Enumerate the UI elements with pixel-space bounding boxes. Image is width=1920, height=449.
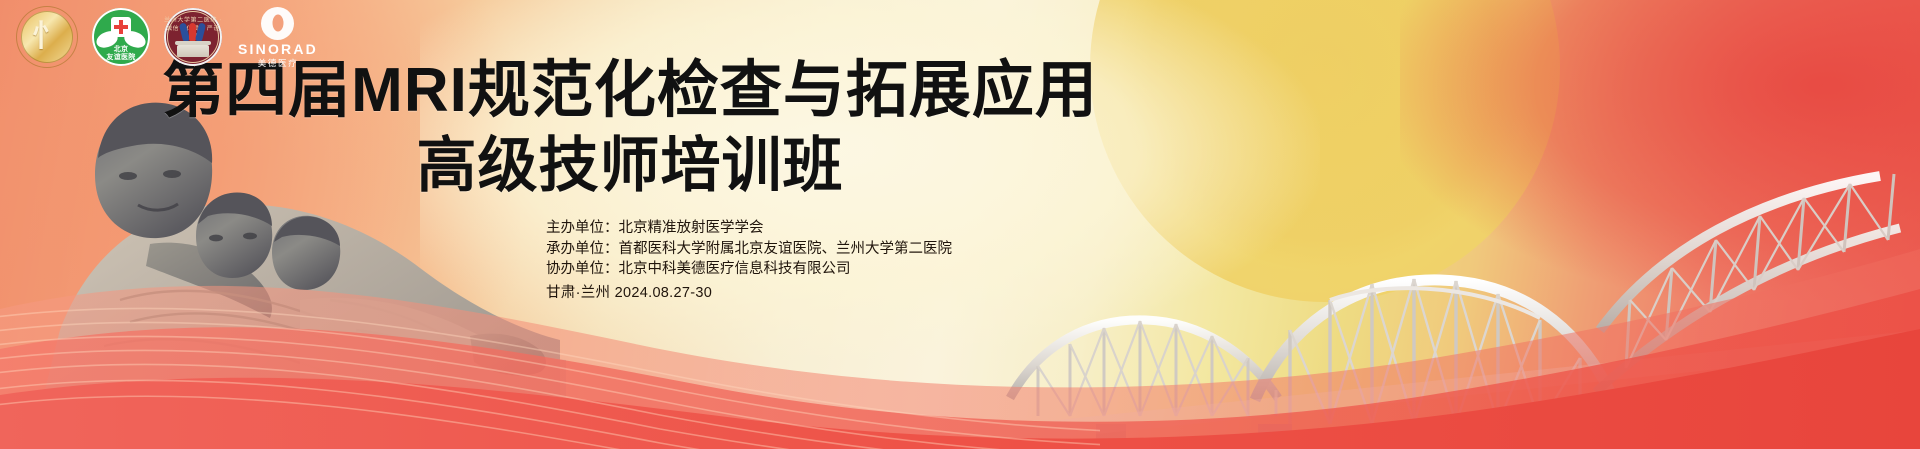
gold-seal-logo: 忄 <box>16 6 78 68</box>
sinorad-logo: SINORAD 美德医疗 <box>238 7 318 68</box>
sinorad-wordmark: SINORAD <box>238 42 318 56</box>
ribbon-icon <box>180 23 206 43</box>
gold-seal-mark: 忄 <box>16 6 78 68</box>
hospital-logo-line1: 北京 <box>92 46 150 54</box>
co-organizer-line: 协办单位：北京中科美德医疗信息科技有限公司 <box>546 259 952 280</box>
conference-banner: 忄 北京 友谊医院 兰州大学第二医院 · 诚信 · 仁爱 · 严谨 · 创新 <box>0 0 1920 449</box>
host-line: 承办单位：首都医科大学附属北京友谊医院、兰州大学第二医院 <box>546 239 952 260</box>
hospital-logo-text: 北京 友谊医院 <box>92 46 150 61</box>
location-date-line: 甘肃·兰州 2024.08.27-30 <box>546 283 952 304</box>
maroon-circle-badge: 兰州大学第二医院 · 诚信 · 仁爱 · 严谨 · 创新 <box>164 8 222 66</box>
green-circle-badge: 北京 友谊医院 <box>92 8 150 66</box>
organizer-line: 主办单位：北京精准放射医学学会 <box>546 218 952 239</box>
sinorad-eye-icon <box>261 7 294 40</box>
logo-row: 忄 北京 友谊医院 兰州大学第二医院 · 诚信 · 仁爱 · 严谨 · 创新 <box>16 6 318 68</box>
sinorad-chinese-name: 美德医疗 <box>258 58 298 68</box>
title-block: 第四届MRI规范化检查与拓展应用 高级技师培训班 <box>0 58 1260 197</box>
beijing-youyi-hospital-logo: 北京 友谊医院 <box>92 8 150 66</box>
ribbon-stripe-blue-right <box>195 22 206 42</box>
gate-building-icon <box>177 45 209 57</box>
gold-seal-ring: 忄 <box>16 6 78 68</box>
title-line-2: 高级技师培训班 <box>0 134 1260 198</box>
hospital-logo-line2: 友谊医院 <box>92 54 150 62</box>
lanzhou-university-second-hospital-logo: 兰州大学第二医院 · 诚信 · 仁爱 · 严谨 · 创新 <box>164 8 222 66</box>
details-block: 主办单位：北京精准放射医学学会 承办单位：首都医科大学附属北京友谊医院、兰州大学… <box>546 218 952 303</box>
